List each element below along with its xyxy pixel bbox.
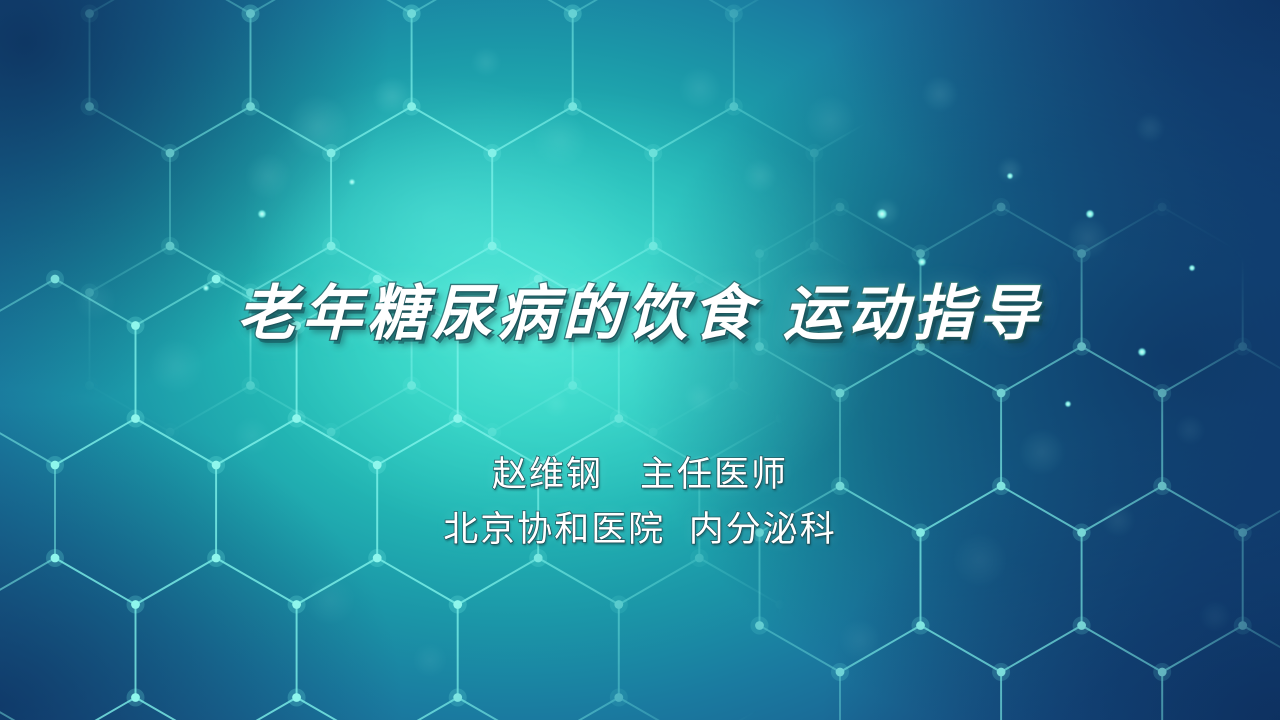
presenter-affiliation: 北京协和医院 内分泌科 (0, 502, 1280, 557)
presenter-name-and-rank: 赵维钢 主任医师 (0, 447, 1280, 502)
title-block: 老年糖尿病的饮食 运动指导 (0, 243, 1280, 386)
title-slide: 老年糖尿病的饮食 运动指导 赵维钢 主任医师 北京协和医院 内分泌科 (0, 0, 1280, 720)
slide-title: 老年糖尿病的饮食 运动指导 (237, 283, 1043, 346)
presenter-block: 赵维钢 主任医师 北京协和医院 内分泌科 (0, 447, 1280, 558)
